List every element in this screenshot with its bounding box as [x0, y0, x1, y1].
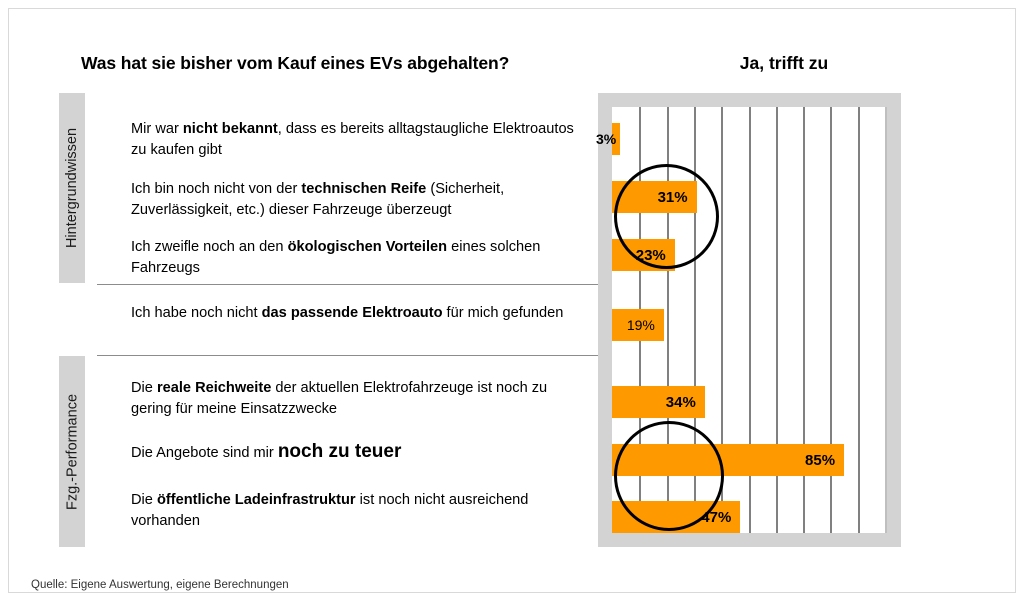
- category-tab-hintergrundwissen: Hintergrundwissen: [59, 93, 85, 283]
- title-row: Was hat sie bisher vom Kauf eines EVs ab…: [9, 53, 1017, 87]
- row-label-emphasis: reale Reichweite: [157, 380, 271, 396]
- gridline: [858, 107, 860, 533]
- row-label-emphasis: ökologischen Vorteilen: [288, 239, 447, 255]
- row-label-pre: Die Angebote sind mir: [131, 445, 278, 461]
- row-label: Ich habe noch nicht das passende Elektro…: [131, 303, 581, 324]
- plot-right-edge: [885, 107, 887, 533]
- row-label-emphasis: nicht bekannt: [183, 121, 278, 137]
- row-label-emphasis: öffentliche Ladeinfrastruktur: [157, 492, 356, 508]
- row-label: Die reale Reichweite der aktuellen Elekt…: [131, 378, 581, 420]
- row-label: Ich zweifle noch an den ökologischen Vor…: [131, 237, 581, 279]
- category-tab-fzg-performance: Fzg.-Performance: [59, 356, 85, 547]
- page-title: Was hat sie bisher vom Kauf eines EVs ab…: [81, 53, 641, 74]
- bar: 34%: [612, 386, 705, 418]
- source-note: Quelle: Eigene Auswertung, eigene Berech…: [31, 579, 289, 591]
- bar-value-label: 85%: [805, 452, 844, 469]
- bar-value-label: 19%: [627, 317, 664, 333]
- chart-frame: Was hat sie bisher vom Kauf eines EVs ab…: [8, 8, 1016, 593]
- row-label: Ich bin noch nicht von der technischen R…: [131, 179, 581, 221]
- row-label-pre: Mir war: [131, 121, 183, 137]
- bar-value-label: 47%: [701, 509, 740, 526]
- bar: 31%: [612, 181, 697, 213]
- row-label-pre: Ich bin noch nicht von der: [131, 181, 301, 197]
- bar: 19%: [612, 309, 664, 341]
- row-label-pre: Ich habe noch nicht: [131, 305, 262, 321]
- bar: 23%: [612, 239, 675, 271]
- bar-value-label: 3%: [596, 131, 616, 147]
- category-tab-label: Fzg.-Performance: [65, 357, 81, 548]
- row-label-pre: Die: [131, 492, 157, 508]
- bar: 47%: [612, 501, 740, 533]
- bar-value-label: 23%: [636, 247, 675, 264]
- row-label-pre: Die: [131, 380, 157, 396]
- row-label-emphasis: technischen Reife: [301, 181, 426, 197]
- row-label-emphasis: das passende Elektroauto: [262, 305, 443, 321]
- row-label-post: für mich gefunden: [443, 305, 564, 321]
- row-label: Mir war nicht bekannt, dass es bereits a…: [131, 119, 581, 161]
- bar-value-label: 31%: [658, 189, 697, 206]
- plot-panel: 3%31%23%19%34%85%47%: [598, 93, 901, 547]
- row-label: Die öffentliche Ladeinfrastruktur ist no…: [131, 490, 581, 532]
- row-label-pre: Ich zweifle noch an den: [131, 239, 288, 255]
- bar: 3%: [612, 123, 620, 155]
- category-tab-label: Hintergrundwissen: [64, 93, 80, 283]
- row-label: Die Angebote sind mir noch zu teuer: [131, 441, 581, 464]
- bar: 85%: [612, 444, 844, 476]
- column-header-ja-trifft-zu: Ja, trifft zu: [674, 53, 894, 74]
- bar-value-label: 34%: [666, 394, 705, 411]
- row-label-emphasis: noch zu teuer: [278, 441, 402, 462]
- plot-area: 3%31%23%19%34%85%47%: [612, 107, 887, 533]
